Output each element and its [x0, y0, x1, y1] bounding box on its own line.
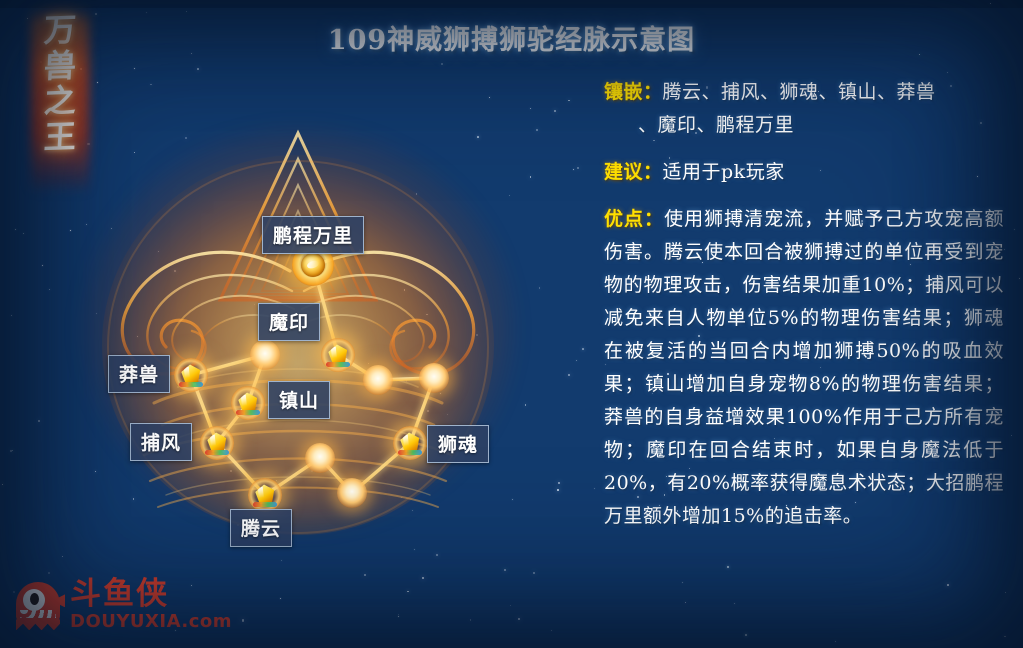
fish-mascot-icon	[16, 582, 60, 630]
banner-char-4: 王	[43, 120, 77, 155]
meridian-node-plain[interactable]	[363, 365, 393, 395]
inlay-line-1: 镶嵌：腾云、捕风、狮魂、镇山、莽兽	[604, 76, 1004, 109]
meridian-label-pengchengwanli[interactable]: 鹏程万里	[262, 216, 364, 254]
gem-band	[326, 362, 350, 367]
info-panel: 镶嵌：腾云、捕风、狮魂、镇山、莽兽 、魔印、鹏程万里 建议：适用于pk玩家 优点…	[604, 76, 1004, 547]
medallion-icon	[301, 253, 325, 277]
meridian-node-moyin[interactable]	[321, 338, 355, 372]
suggestion-line: 建议：适用于pk玩家	[604, 156, 1004, 189]
node-core	[363, 365, 393, 395]
meridian-node-shihun[interactable]	[393, 426, 427, 460]
node-core	[250, 340, 280, 370]
gem-band	[253, 502, 277, 507]
meridian-node-bufeng[interactable]	[200, 426, 234, 460]
meridian-label-zhenshan[interactable]: 镇山	[268, 381, 330, 419]
site-watermark: 斗鱼侠 DOUYUXIA.com	[16, 579, 232, 634]
inlay-key: 镶嵌：	[604, 81, 663, 103]
mascot-legs	[16, 619, 60, 630]
meridian-label-mangshou[interactable]: 莽兽	[108, 355, 170, 393]
watermark-cn: 斗鱼侠	[70, 579, 232, 610]
meridian-node-zhenshan[interactable]	[231, 386, 265, 420]
meridian-node-mangshou[interactable]	[174, 358, 208, 392]
node-core	[305, 443, 335, 473]
gem-band	[398, 450, 422, 455]
inlay-value-1: 腾云、捕风、狮魂、镇山、莽兽	[663, 81, 936, 103]
advantage-key: 优点：	[604, 208, 664, 230]
meridian-label-bufeng[interactable]: 捕风	[130, 423, 192, 461]
gem-band	[205, 450, 229, 455]
suggestion-key: 建议：	[604, 161, 663, 183]
gem-band	[236, 410, 260, 415]
meridian-label-shihun[interactable]: 狮魂	[427, 425, 489, 463]
node-core	[337, 478, 367, 508]
meridian-node-plain[interactable]	[250, 340, 280, 370]
mascot-teeth	[20, 610, 56, 618]
advantage-text: 使用狮搏清宠流，并赋予己方攻宠高额伤害。腾云使本回合被狮搏过的单位再受到宠物的物…	[604, 208, 1004, 527]
info-row-suggestion: 建议：适用于pk玩家	[604, 156, 1004, 189]
meridian-node-plain[interactable]	[305, 443, 335, 473]
page-title: 109神威狮搏狮驼经脉示意图	[0, 18, 1023, 57]
watermark-en: DOUYUXIA.com	[70, 610, 232, 634]
top-edge-band	[0, 0, 1023, 8]
meridian-label-tengyun[interactable]: 腾云	[230, 509, 292, 547]
info-row-advantage: 优点：使用狮搏清宠流，并赋予己方攻宠高额伤害。腾云使本回合被狮搏过的单位再受到宠…	[604, 203, 1004, 533]
meridian-node-plain[interactable]	[419, 363, 449, 393]
watermark-text: 斗鱼侠 DOUYUXIA.com	[70, 579, 232, 634]
info-row-inlay: 镶嵌：腾云、捕风、狮魂、镇山、莽兽 、魔印、鹏程万里	[604, 76, 1004, 142]
inlay-line-2: 、魔印、鹏程万里	[604, 109, 1004, 142]
meridian-label-moyin[interactable]: 魔印	[258, 303, 320, 341]
meridian-node-plain[interactable]	[337, 478, 367, 508]
gem-band	[179, 382, 203, 387]
node-core	[419, 363, 449, 393]
banner-char-3: 之	[43, 85, 77, 120]
meridian-node-tengyun[interactable]	[248, 478, 282, 512]
infographic-canvas: 万 兽 之 王 109神威狮搏狮驼经脉示意图	[0, 0, 1023, 648]
suggestion-value: 适用于pk玩家	[663, 161, 785, 183]
advantage-body: 优点：使用狮搏清宠流，并赋予己方攻宠高额伤害。腾云使本回合被狮搏过的单位再受到宠…	[604, 203, 1004, 533]
